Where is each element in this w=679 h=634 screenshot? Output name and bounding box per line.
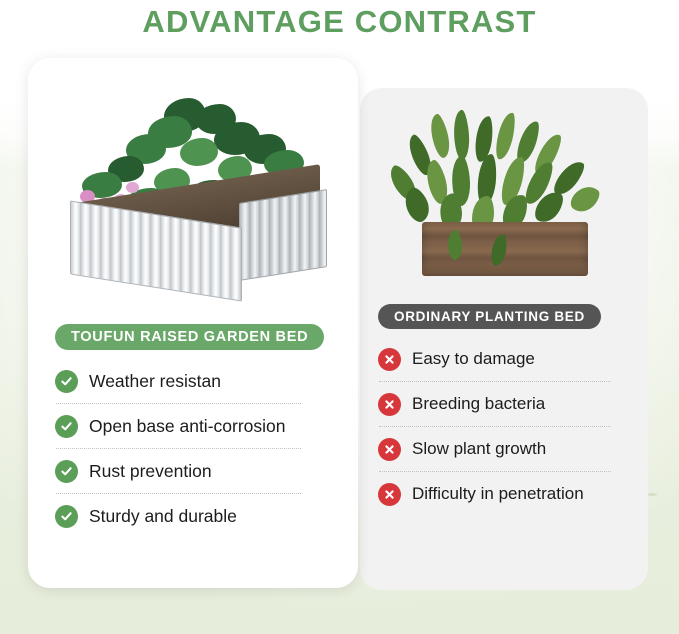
check-circle-icon bbox=[55, 415, 78, 438]
list-divider bbox=[379, 381, 611, 382]
feature-label: Breeding bacteria bbox=[412, 394, 545, 414]
raised-garden-bed-image bbox=[28, 72, 358, 312]
x-circle-icon bbox=[378, 348, 401, 371]
list-divider bbox=[56, 403, 301, 404]
check-circle-icon bbox=[55, 460, 78, 483]
page-title: ADVANTAGE CONTRAST bbox=[0, 0, 679, 44]
x-circle-icon bbox=[378, 438, 401, 461]
feature-label: Open base anti-corrosion bbox=[89, 416, 286, 437]
feature-label: Rust prevention bbox=[89, 461, 212, 482]
garden-bed-illustration bbox=[64, 88, 326, 296]
list-divider bbox=[379, 426, 611, 427]
list-item: Weather resistan bbox=[55, 366, 357, 396]
list-divider bbox=[379, 471, 611, 472]
advantage-feature-list: Weather resistan Open base anti-corrosio… bbox=[55, 366, 357, 531]
feature-label: Slow plant growth bbox=[412, 439, 546, 459]
list-item: Rust prevention bbox=[55, 456, 357, 486]
badge-toufun-raised-garden-bed: TOUFUN RAISED GARDEN BED bbox=[55, 324, 324, 350]
list-item: Sturdy and durable bbox=[55, 501, 357, 531]
comparison-card-ordinary bbox=[360, 88, 648, 590]
planter-illustration bbox=[388, 110, 620, 292]
garden-bed-side-panel bbox=[239, 189, 327, 281]
feature-label: Weather resistan bbox=[89, 371, 221, 392]
wooden-planter-image bbox=[360, 104, 648, 300]
feature-label: Sturdy and durable bbox=[89, 506, 237, 527]
x-circle-icon bbox=[378, 483, 401, 506]
badge-ordinary-planting-bed: ORDINARY PLANTING BED bbox=[378, 304, 601, 329]
drawback-feature-list: Easy to damage Breeding bacteria Slow pl… bbox=[378, 344, 636, 509]
list-item: Breeding bacteria bbox=[378, 389, 636, 419]
feature-label: Easy to damage bbox=[412, 349, 535, 369]
feature-label: Difficulty in penetration bbox=[412, 484, 584, 504]
x-circle-icon bbox=[378, 393, 401, 416]
list-item: Open base anti-corrosion bbox=[55, 411, 357, 441]
list-item: Difficulty in penetration bbox=[378, 479, 636, 509]
check-circle-icon bbox=[55, 505, 78, 528]
list-item: Easy to damage bbox=[378, 344, 636, 374]
check-circle-icon bbox=[55, 370, 78, 393]
list-divider bbox=[56, 493, 301, 494]
list-item: Slow plant growth bbox=[378, 434, 636, 464]
list-divider bbox=[56, 448, 301, 449]
